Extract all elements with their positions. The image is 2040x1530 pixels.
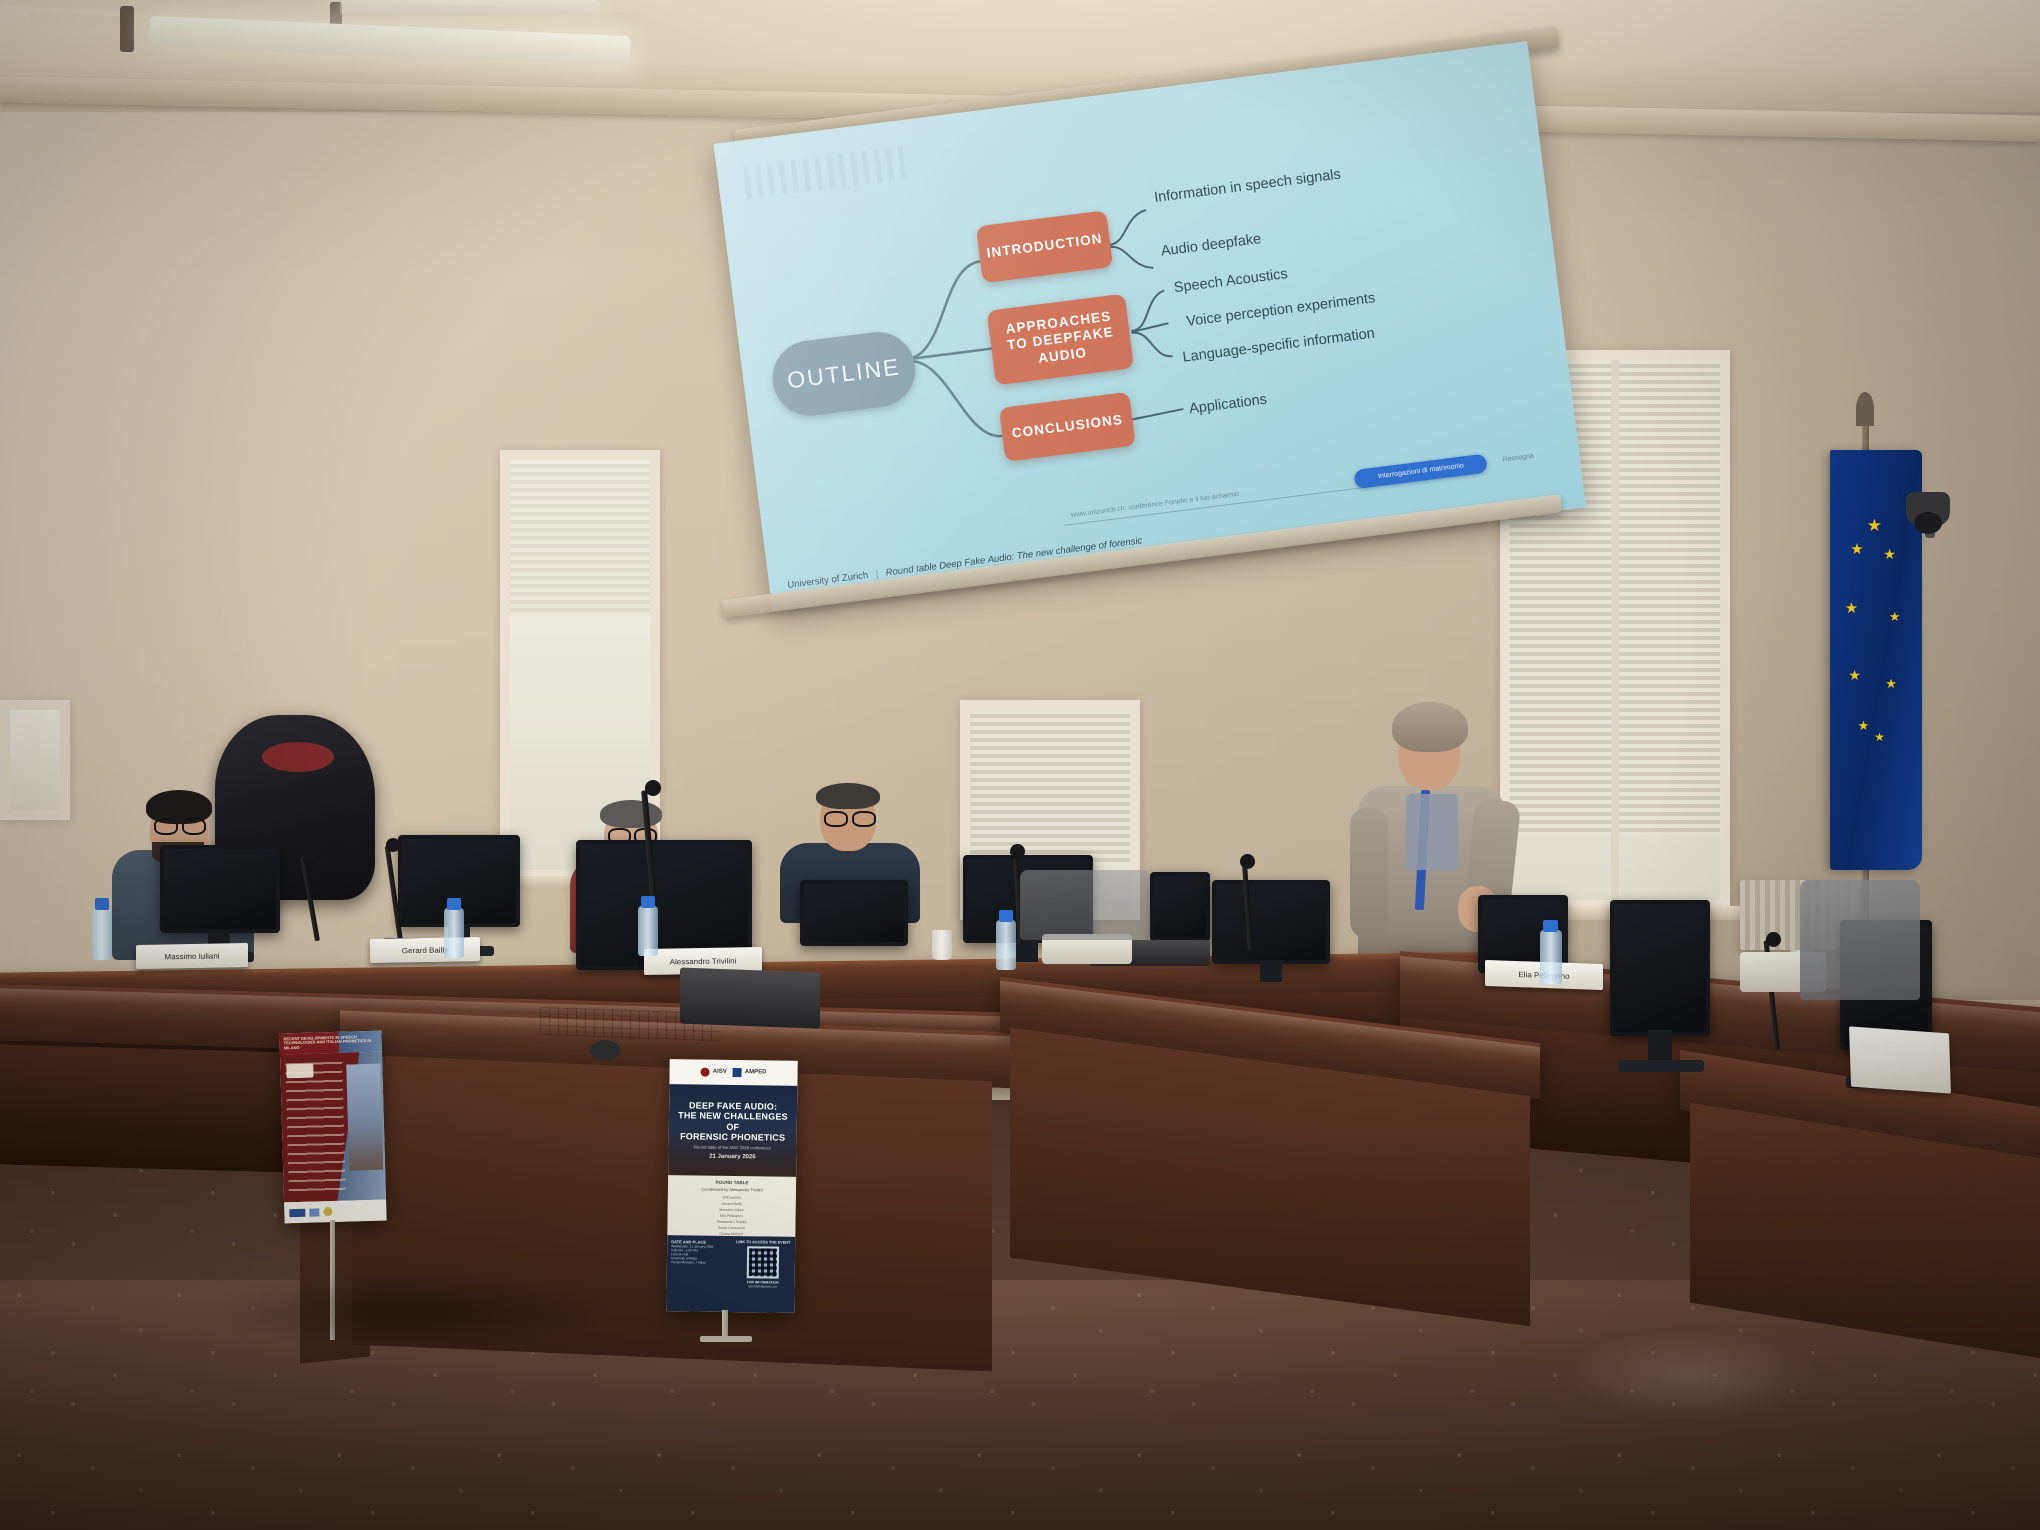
poster-speaker: Elia Pellegrino	[720, 1214, 743, 1218]
poster-footer-left: DATE AND PLACE Wednesday, 21 January 202…	[666, 1236, 731, 1312]
poster-main: AISV AMPED DEEP FAKE AUDIO: THE NEW CHAL…	[666, 1059, 798, 1313]
monitor-screen	[1610, 900, 1710, 1036]
nameplate-text: Gerard Bailly	[402, 945, 448, 954]
microphone-5-head	[1766, 932, 1781, 947]
glasses	[824, 811, 848, 827]
water-bottle-2	[444, 908, 464, 958]
hair	[1392, 702, 1468, 752]
poster-speaker: Massimo Iuliani	[719, 1208, 744, 1212]
poster-speaker: Sonia Cenceschi	[718, 1226, 745, 1230]
mouse[interactable]	[590, 1040, 620, 1060]
poster-footer-right: LINK TO ACCESS THE EVENT FOR INFORMATION…	[730, 1236, 795, 1312]
poster-footer-line: Via dei Mercanti, 7 Milan	[671, 1261, 727, 1266]
hair	[600, 800, 662, 828]
window-blinds	[510, 460, 650, 616]
water-bottle-4	[996, 920, 1016, 970]
microphone-4-head	[1240, 854, 1255, 869]
water-bottle-5	[1540, 930, 1562, 984]
chair-center[interactable]	[1020, 870, 1150, 940]
lamp-support-bar	[120, 6, 134, 52]
flag-star: ★	[1874, 731, 1885, 743]
poster-mid-heading: ROUND TABLE	[715, 1180, 748, 1185]
poster-speaker: Chiara Meluzzi	[719, 1232, 743, 1236]
microphone-2-head	[645, 780, 661, 796]
logo-aisv: AISV	[701, 1065, 727, 1080]
flag-star: ★	[1885, 677, 1897, 690]
flag-star: ★	[1848, 668, 1861, 682]
glasses	[154, 818, 178, 835]
bottle-cap	[999, 910, 1013, 922]
poster-subtitle: Round table of the AISV 2026 conference	[694, 1144, 771, 1150]
conference-room-photo: OUTLINE INTRODUCTION APPROACHES TO DEEPF…	[0, 0, 2040, 1530]
poster-footer-right-heading: LINK TO ACCESS THE EVENT	[735, 1240, 791, 1245]
poster-logo-row: AISV AMPED	[669, 1059, 797, 1086]
qr-code-icon[interactable]	[747, 1247, 779, 1279]
water-bottle-3	[638, 906, 658, 956]
poster-title-line2: THE NEW CHALLENGES OF	[672, 1111, 794, 1133]
projection-screen-assembly: OUTLINE INTRODUCTION APPROACHES TO DEEPF…	[735, 30, 1575, 690]
window-mullion	[1611, 360, 1619, 900]
hair	[816, 783, 880, 809]
poster-program: RECENT DEVELOPMENTS IN SPEECH TECHNOLOGI…	[279, 1031, 386, 1224]
monitor-9-right	[1610, 900, 1710, 1036]
poster-program-logo-amped	[323, 1207, 332, 1216]
monitor-screen	[160, 845, 280, 933]
flag-star: ★	[1867, 517, 1882, 534]
nameplate-text: Alessandro Trivilini	[670, 956, 737, 966]
box-label-approaches: APPROACHES TO DEEPFAKE AUDIO	[994, 307, 1127, 372]
bottle-cap	[95, 898, 109, 910]
poster-program-title: RECENT DEVELOPMENTS IN SPEECH TECHNOLOGI…	[283, 1035, 377, 1050]
logo-amped: AMPED	[733, 1065, 767, 1080]
poster-speakers-label: SPEAKERS	[722, 1196, 741, 1200]
camera-lens	[1914, 512, 1942, 534]
cable-box-center	[680, 968, 820, 1029]
poster-program-body	[280, 1051, 386, 1202]
flag-star: ★	[1845, 601, 1858, 616]
footer-separator: |	[875, 568, 879, 579]
microphone-6-head	[303, 848, 317, 862]
flag-star: ★	[1858, 719, 1870, 732]
monitor-screen	[1212, 880, 1330, 964]
poster-hero: DEEP FAKE AUDIO: THE NEW CHALLENGES OF F…	[668, 1084, 797, 1177]
monitor-stand	[1648, 1030, 1672, 1064]
monitor-base	[1618, 1060, 1704, 1072]
poster-mid-subheading: Coordinated by Alessandro Trivilini	[701, 1187, 762, 1193]
monitor-6	[1150, 872, 1210, 942]
chair-right[interactable]	[1800, 880, 1920, 1000]
monitor-screen	[1150, 872, 1210, 942]
footer-secondary-link[interactable]: Rassegna	[1502, 452, 1534, 463]
monitor-4	[800, 880, 908, 946]
flag-star: ★	[1850, 542, 1863, 557]
flag-pole-finial	[1856, 392, 1874, 426]
poster-program-title-band: RECENT DEVELOPMENTS IN SPEECH TECHNOLOGI…	[279, 1031, 382, 1055]
window-blinds	[970, 710, 1130, 866]
water-bottle-1	[92, 908, 112, 960]
microphone-3-head	[1010, 844, 1025, 859]
poster-date: 21 January 2026	[709, 1153, 755, 1160]
drinking-glass-1	[932, 930, 952, 960]
monitor-screen	[800, 880, 908, 946]
logo-amped-label: AMPED	[745, 1070, 767, 1076]
poster-program-textlines	[285, 1061, 346, 1193]
poster-program-logo-aisv	[289, 1208, 305, 1216]
poster-speaker: Gerard Bailly	[721, 1202, 742, 1206]
ceiling-light-fixture-2	[340, 0, 600, 16]
flag-star: ★	[1883, 547, 1896, 561]
box-label-conclusions: CONCLUSIONS	[1011, 412, 1124, 442]
logo-aisv-label: AISV	[713, 1069, 727, 1075]
window-upper-left	[0, 700, 70, 820]
nameplate-text: Massimo Iuliani	[164, 951, 219, 961]
bottle-cap	[641, 896, 655, 908]
nameplate-massimo-iuliani: Massimo Iuliani	[136, 943, 248, 969]
poster-footer-right-email: aisv2026@gmail.com	[735, 1284, 791, 1289]
arm-left	[1350, 808, 1388, 938]
poster-program-logo-unimi	[309, 1208, 319, 1216]
desk-shadow-left	[200, 1270, 620, 1350]
monitor-1	[160, 845, 280, 933]
microphone-1-head	[386, 838, 400, 852]
glasses	[852, 811, 876, 827]
shirt	[1406, 794, 1458, 870]
nameplate-blank-right	[1849, 1026, 1951, 1093]
poster-title-line3: FORENSIC PHONETICS	[680, 1131, 785, 1143]
aisv-mark	[701, 1067, 710, 1076]
glasses	[182, 818, 206, 835]
flag-star: ★	[1889, 610, 1901, 623]
poster-middle: ROUND TABLE Coordinated by Alessandro Tr…	[667, 1176, 796, 1238]
outline-node-label: OUTLINE	[786, 353, 902, 394]
bottle-cap	[1543, 920, 1558, 932]
coat-red-detail	[262, 742, 334, 772]
amped-mark	[733, 1068, 742, 1077]
monitor-stand	[1260, 960, 1282, 982]
box-label-introduction: INTRODUCTION	[986, 231, 1104, 262]
floor-reflection-right	[1560, 1330, 1820, 1420]
window-glass	[10, 710, 60, 810]
bottle-cap	[447, 898, 461, 910]
poster-main-foot	[700, 1336, 752, 1342]
poster-speaker: Alessandro Trivilini	[716, 1220, 746, 1224]
poster-footer: DATE AND PLACE Wednesday, 21 January 202…	[666, 1236, 795, 1313]
poster-program-photo	[347, 1063, 384, 1171]
poster-program-footer	[284, 1200, 387, 1224]
monitor-7	[1212, 880, 1330, 964]
